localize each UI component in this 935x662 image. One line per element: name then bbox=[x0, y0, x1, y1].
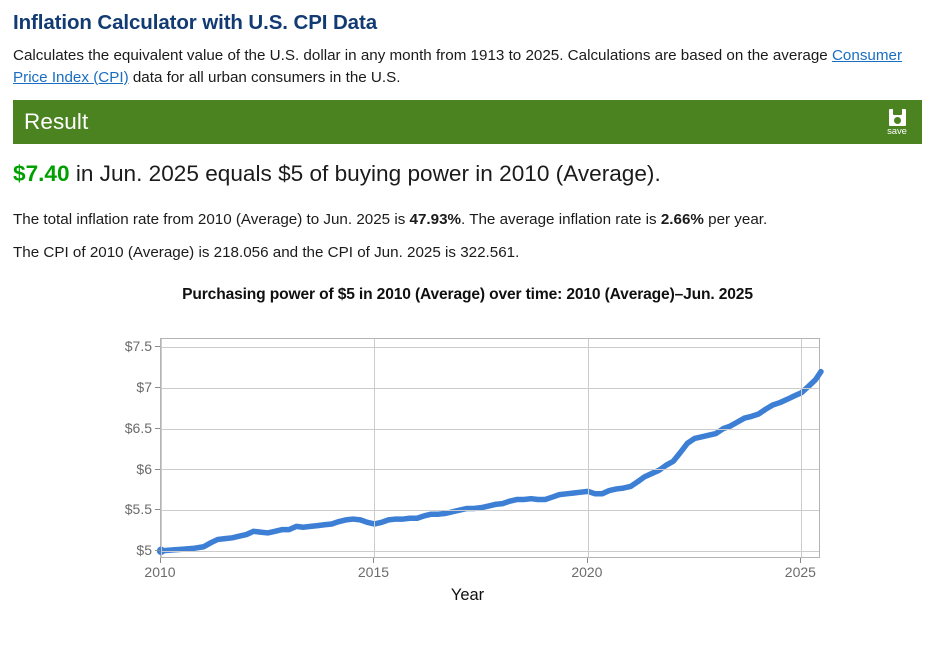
floppy-disk-save-icon bbox=[889, 109, 906, 126]
chart-ytick-label: $5 bbox=[136, 542, 152, 558]
chart-xtick-label: 2010 bbox=[144, 564, 175, 580]
result-header-title: Result bbox=[24, 111, 88, 134]
chart-gridline-vertical bbox=[588, 339, 589, 557]
chart-line-series bbox=[161, 339, 821, 559]
chart-xtick-mark bbox=[160, 558, 161, 563]
chart-ytick-label: $7.5 bbox=[125, 338, 152, 354]
chart-title: Purchasing power of $5 in 2010 (Average)… bbox=[0, 286, 935, 304]
chart-gridline-horizontal bbox=[161, 347, 819, 348]
chart-series-line bbox=[161, 372, 821, 551]
chart-ytick-mark bbox=[155, 550, 160, 551]
intro-text-before-link: Calculates the equivalent value of the U… bbox=[13, 47, 832, 64]
chart-ytick-mark bbox=[155, 428, 160, 429]
chart-xaxis-label: Year bbox=[0, 586, 935, 605]
intro-paragraph: Calculates the equivalent value of the U… bbox=[13, 36, 918, 90]
inflation-text-2: . The average inflation rate is bbox=[461, 211, 661, 228]
chart-xtick-mark bbox=[800, 558, 801, 563]
chart-xtick-label: 2020 bbox=[571, 564, 602, 580]
page-title: Inflation Calculator with U.S. CPI Data bbox=[13, 0, 922, 36]
chart-gridline-horizontal bbox=[161, 551, 819, 552]
chart-ytick-label: $5.5 bbox=[125, 501, 152, 517]
cpi-text-2: and the CPI of Jun. 2025 is bbox=[269, 244, 461, 261]
total-inflation-rate-value: 47.93% bbox=[410, 211, 462, 228]
chart-gridline-horizontal bbox=[161, 429, 819, 430]
average-inflation-rate-value: 2.66% bbox=[661, 211, 704, 228]
chart-ytick-label: $6 bbox=[136, 461, 152, 477]
intro-text-after-link: data for all urban consumers in the U.S. bbox=[129, 69, 401, 86]
cpi-end-value: 322.561 bbox=[460, 244, 515, 261]
inflation-calculator-page: Inflation Calculator with U.S. CPI Data … bbox=[0, 0, 935, 662]
result-headline: $7.40 in Jun. 2025 equals $5 of buying p… bbox=[13, 144, 922, 188]
purchasing-power-chart: Purchasing power of $5 in 2010 (Average)… bbox=[0, 286, 935, 596]
inflation-text-3: per year. bbox=[704, 211, 767, 228]
chart-plot-area bbox=[160, 338, 820, 558]
chart-gridline-vertical bbox=[801, 339, 802, 557]
inflation-rate-paragraph: The total inflation rate from 2010 (Aver… bbox=[13, 189, 922, 231]
cpi-paragraph: The CPI of 2010 (Average) is 218.056 and… bbox=[13, 231, 922, 264]
cpi-text-3: . bbox=[515, 244, 519, 261]
chart-gridline-horizontal bbox=[161, 388, 819, 389]
chart-xtick-label: 2015 bbox=[358, 564, 389, 580]
result-amount: $7.40 bbox=[13, 161, 70, 186]
chart-xtick-label: 2025 bbox=[785, 564, 816, 580]
cpi-start-value: 218.056 bbox=[214, 244, 269, 261]
chart-xtick-mark bbox=[587, 558, 588, 563]
save-button-label: save bbox=[887, 127, 907, 137]
chart-ytick-mark bbox=[155, 509, 160, 510]
chart-gridline-vertical bbox=[161, 339, 162, 557]
result-headline-rest: in Jun. 2025 equals $5 of buying power i… bbox=[70, 161, 661, 186]
save-button[interactable]: save bbox=[879, 109, 915, 137]
chart-ytick-mark bbox=[155, 387, 160, 388]
chart-ytick-label: $7 bbox=[136, 379, 152, 395]
chart-ytick-label: $6.5 bbox=[125, 420, 152, 436]
result-header-bar: Result save bbox=[13, 100, 922, 144]
chart-xtick-mark bbox=[373, 558, 374, 563]
chart-gridline-horizontal bbox=[161, 469, 819, 470]
chart-ytick-mark bbox=[155, 346, 160, 347]
chart-gridline-vertical bbox=[374, 339, 375, 557]
chart-ytick-mark bbox=[155, 469, 160, 470]
cpi-text-1: The CPI of 2010 (Average) is bbox=[13, 244, 214, 261]
inflation-text-1: The total inflation rate from 2010 (Aver… bbox=[13, 211, 410, 228]
chart-gridline-horizontal bbox=[161, 510, 819, 511]
